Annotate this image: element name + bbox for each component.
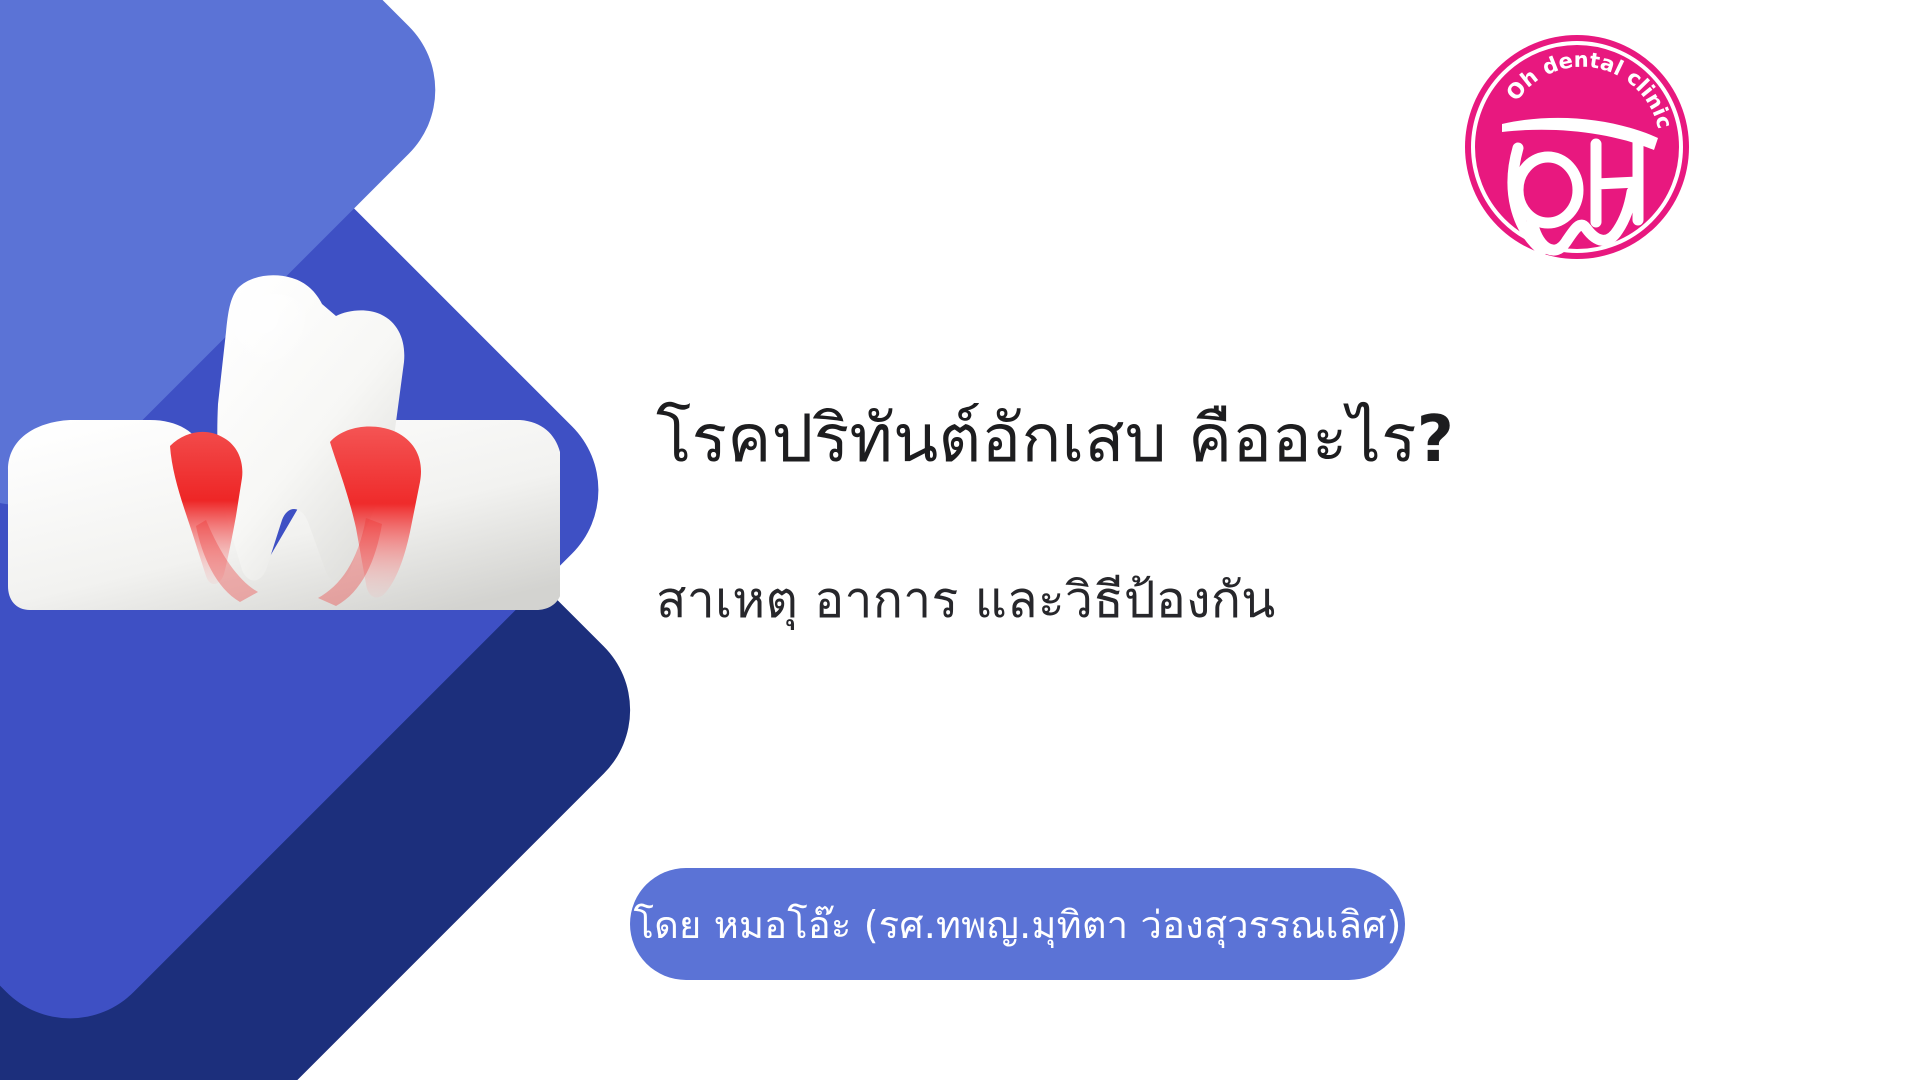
slide-canvas: Oh dental clinic โรคปริทันต์อักเสบ คืออะ… [0, 0, 1920, 1080]
author-credit-pill[interactable]: โดย หมอโอ๊ะ (รศ.ทพญ.มุทิตา ว่องสุวรรณเลิ… [630, 868, 1405, 980]
page-title-question-mark: ? [1417, 403, 1454, 477]
author-credit-text: โดย หมอโอ๊ะ (รศ.ทพญ.มุทิตา ว่องสุวรรณเลิ… [634, 894, 1402, 955]
inflamed-gum-tooth-illustration [0, 270, 560, 630]
page-title-text: โรคปริทันต์อักเสบ คืออะไร [656, 400, 1417, 477]
page-title: โรคปริทันต์อักเสบ คืออะไร? [656, 400, 1856, 479]
content-column: โรคปริทันต์อักเสบ คืออะไร? สาเหตุ อาการ … [650, 0, 1880, 1080]
page-subtitle: สาเหตุ อาการ และวิธีป้องกัน [656, 570, 1856, 630]
